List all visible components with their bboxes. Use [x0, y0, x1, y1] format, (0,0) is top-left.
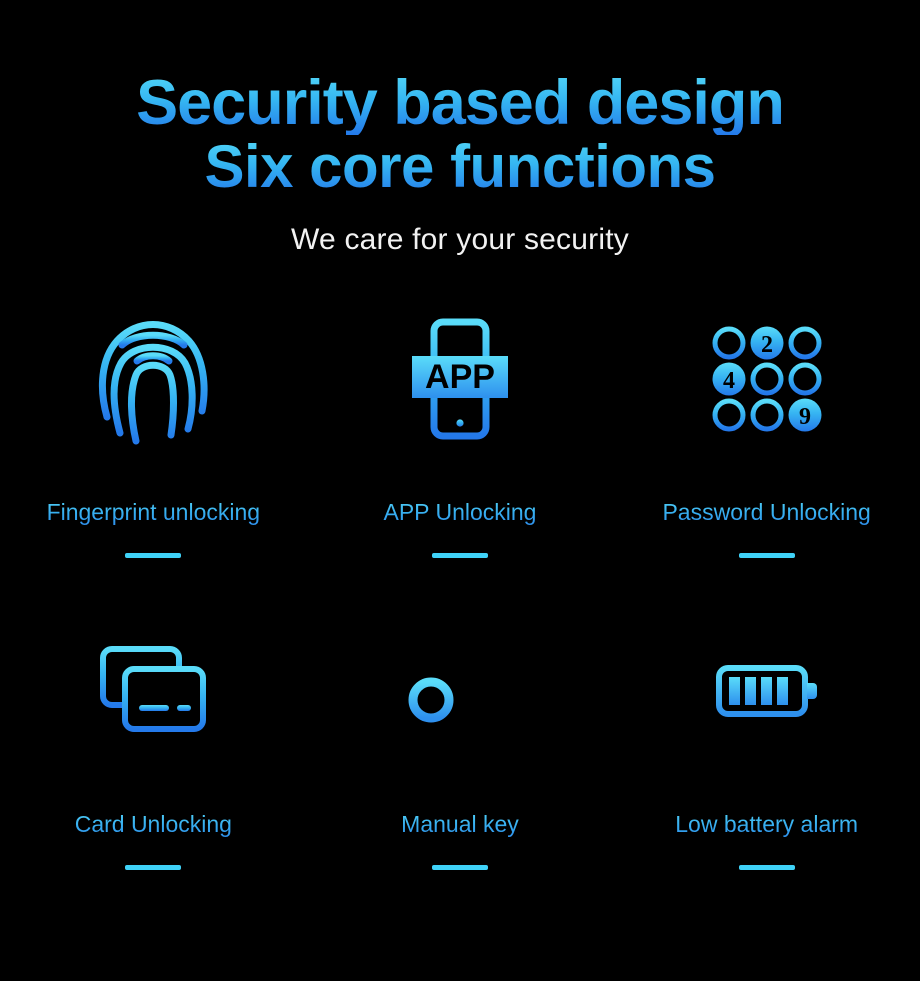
- feature-label: APP Unlocking: [383, 497, 536, 527]
- feature-item-key: Manual key: [307, 625, 614, 947]
- feature-item-card: Card Unlocking: [0, 625, 307, 947]
- card-stack-icon: [97, 631, 209, 751]
- feature-label: Manual key: [401, 809, 519, 839]
- feature-underline: [125, 553, 181, 558]
- feature-underline: [432, 865, 488, 870]
- page-subtitle: We care for your security: [0, 223, 920, 257]
- feature-label: Low battery alarm: [675, 809, 858, 839]
- feature-underline: [739, 553, 795, 558]
- feature-item-fingerprint: Fingerprint unlocking: [0, 303, 307, 625]
- app-icon-text: APP: [425, 358, 495, 396]
- title-line-primary: Security based design: [0, 72, 920, 135]
- page-title: Security based design Six core functions: [0, 72, 920, 197]
- password-keypad-icon: 2 4 9: [711, 309, 823, 449]
- fingerprint-icon: [95, 309, 211, 449]
- feature-grid: Fingerprint unlocking APP APP Unlocking: [0, 303, 920, 947]
- promo-page: Security based design Six core functions…: [0, 0, 920, 981]
- key-icon: [405, 631, 515, 751]
- keypad-digit-2: 2: [761, 332, 773, 358]
- feature-underline: [125, 865, 181, 870]
- page-header: Security based design Six core functions…: [0, 0, 920, 257]
- feature-label: Card Unlocking: [75, 809, 232, 839]
- feature-label: Password Unlocking: [662, 497, 870, 527]
- feature-item-app: APP APP Unlocking: [307, 303, 614, 625]
- feature-item-password: 2 4 9 Password Unlocking: [613, 303, 920, 625]
- feature-label: Fingerprint unlocking: [47, 497, 261, 527]
- keypad-digit-9: 9: [799, 404, 811, 430]
- feature-underline: [739, 865, 795, 870]
- keypad-digit-4: 4: [723, 368, 735, 394]
- battery-low-icon: [715, 631, 819, 751]
- app-phone-icon: APP: [408, 309, 512, 449]
- feature-underline: [432, 553, 488, 558]
- feature-item-battery: Low battery alarm: [613, 625, 920, 947]
- title-line-secondary: Six core functions: [0, 137, 920, 197]
